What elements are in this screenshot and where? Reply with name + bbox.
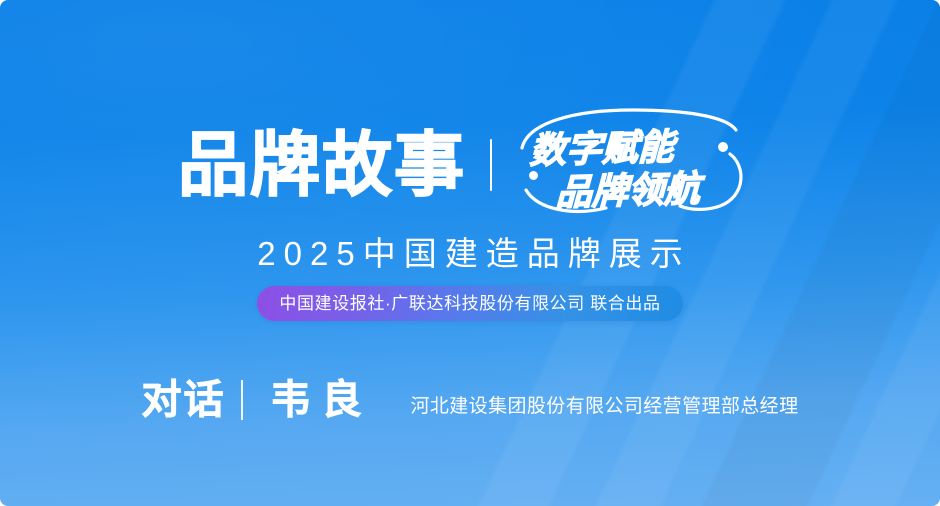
logo-dot-right [718, 142, 728, 152]
pill-row: 中国建设报社·广联达科技股份有限公司 联合出品 [0, 286, 940, 321]
guest-name: 韦良 [259, 380, 372, 420]
page-title: 品牌故事 [178, 124, 466, 200]
guest-role: 河北建设集团股份有限公司经营管理部总经理 [410, 385, 798, 416]
event-subtitle: 2025中国建造品牌展示 [0, 232, 940, 276]
guest-divider [241, 380, 243, 420]
title-divider [490, 139, 492, 191]
title-row: 品牌故事 数字赋能 品牌领航 [0, 104, 940, 220]
guest-row: 对话 韦良 河北建设集团股份有限公司经营管理部总经理 [0, 372, 940, 428]
logo-dot-left [529, 171, 538, 180]
logo-line-2: 品牌领航 [555, 160, 700, 216]
campaign-logo: 数字赋能 品牌领航 [514, 104, 762, 220]
co-producer-badge: 中国建设报社·广联达科技股份有限公司 联合出品 [257, 286, 682, 321]
guest-label: 对话 [141, 380, 225, 420]
logo-text-wrap: 数字赋能 品牌领航 [514, 104, 762, 220]
brand-story-banner: 品牌故事 数字赋能 品牌领航 2025中国建造品牌展示 中国建设报社·广联达科技… [0, 0, 940, 506]
